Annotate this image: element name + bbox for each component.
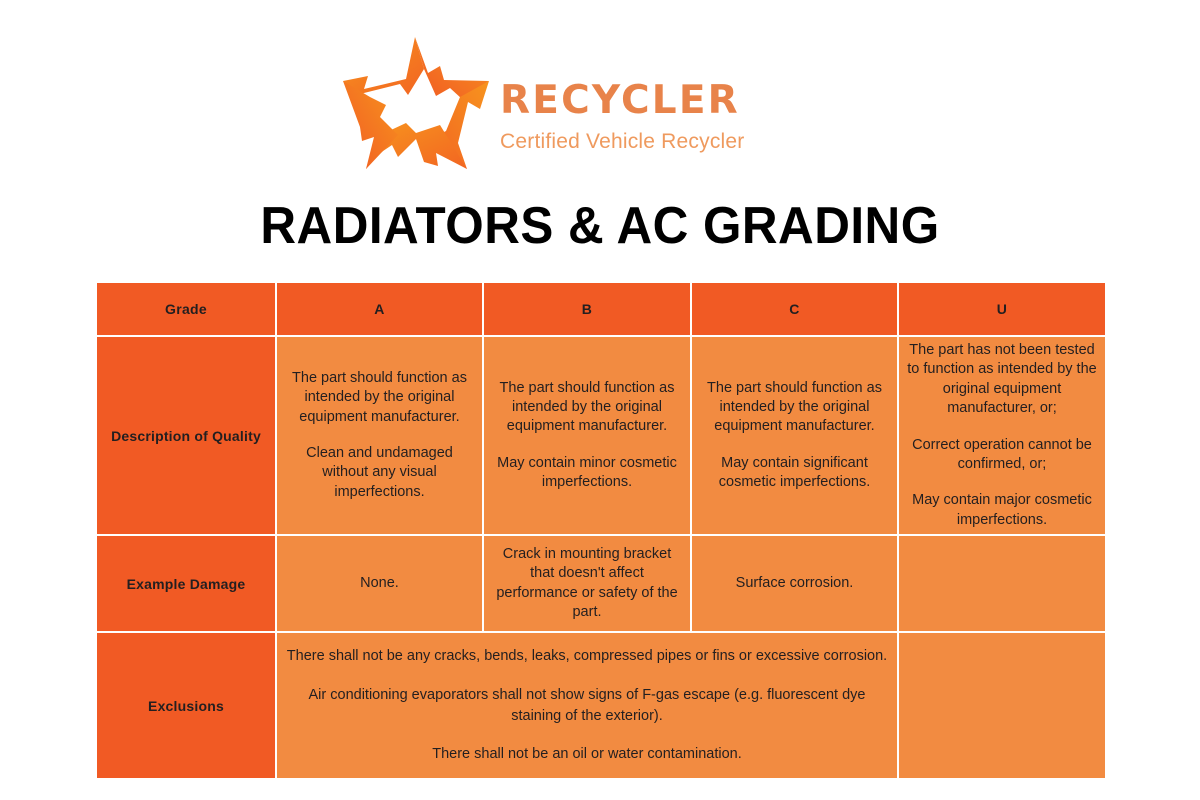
row-label-example-damage: Example Damage bbox=[96, 535, 276, 632]
cell-paragraph: Crack in mounting bracket that doesn't a… bbox=[492, 545, 682, 622]
row-label-description: Description of Quality bbox=[96, 336, 276, 535]
header-grade-b: B bbox=[483, 282, 691, 336]
cell-paragraph: May contain minor cosmetic imperfections… bbox=[492, 454, 682, 493]
cell-exclusions-merged: There shall not be any cracks, bends, le… bbox=[276, 632, 898, 779]
cell-description-u: The part has not been tested to function… bbox=[898, 336, 1106, 535]
row-label-exclusions: Exclusions bbox=[96, 632, 276, 779]
header-grade-c: C bbox=[691, 282, 898, 336]
cell-paragraph: Correct operation cannot be confirmed, o… bbox=[907, 436, 1097, 475]
logo-tagline: Certified Vehicle Recycler bbox=[500, 131, 744, 152]
cell-example-damage-a: None. bbox=[276, 535, 483, 632]
cell-paragraph: There shall not be an oil or water conta… bbox=[285, 744, 889, 765]
cell-exclusions-u bbox=[898, 632, 1106, 779]
cell-paragraph: The part should function as intended by … bbox=[492, 379, 682, 437]
cell-description-b: The part should function as intended by … bbox=[483, 336, 691, 535]
cell-example-damage-u bbox=[898, 535, 1106, 632]
cell-paragraph: The part should function as intended by … bbox=[285, 369, 474, 427]
header-grade-a: A bbox=[276, 282, 483, 336]
cell-paragraph: Clean and undamaged without any visual i… bbox=[285, 444, 474, 502]
cell-description-a: The part should function as intended by … bbox=[276, 336, 483, 535]
table-row-description: Description of Quality The part should f… bbox=[96, 336, 1106, 535]
table-header-row: Grade A B C U bbox=[96, 282, 1106, 336]
cell-paragraph: None. bbox=[285, 574, 474, 593]
grading-sheet-page: RECYCLER Certified Vehicle Recycler RADI… bbox=[0, 0, 1200, 800]
logo-wordmark: RECYCLER bbox=[500, 81, 744, 120]
cell-paragraph: The part has not been tested to function… bbox=[907, 341, 1097, 418]
cell-paragraph: There shall not be any cracks, bends, le… bbox=[285, 646, 889, 667]
cell-paragraph: Surface corrosion. bbox=[700, 574, 889, 593]
cell-paragraph: The part should function as intended by … bbox=[700, 379, 889, 437]
company-logo: RECYCLER Certified Vehicle Recycler bbox=[340, 33, 770, 173]
cell-paragraph: Air conditioning evaporators shall not s… bbox=[285, 685, 889, 727]
header-grade: Grade bbox=[96, 282, 276, 336]
table-row-example-damage: Example Damage None. Crack in mounting b… bbox=[96, 535, 1106, 632]
cell-example-damage-c: Surface corrosion. bbox=[691, 535, 898, 632]
logo-text-block: RECYCLER Certified Vehicle Recycler bbox=[500, 55, 744, 152]
cell-paragraph: May contain major cosmetic imperfections… bbox=[907, 491, 1097, 530]
header-grade-u: U bbox=[898, 282, 1106, 336]
cell-description-c: The part should function as intended by … bbox=[691, 336, 898, 535]
cell-paragraph: May contain significant cosmetic imperfe… bbox=[700, 454, 889, 493]
page-title: RADIATORS & AC GRADING bbox=[30, 196, 1170, 256]
grading-table: Grade A B C U Description of Quality The… bbox=[95, 281, 1107, 780]
cell-example-damage-b: Crack in mounting bracket that doesn't a… bbox=[483, 535, 691, 632]
table-row-exclusions: Exclusions There shall not be any cracks… bbox=[96, 632, 1106, 779]
recycling-star-icon bbox=[340, 33, 492, 173]
